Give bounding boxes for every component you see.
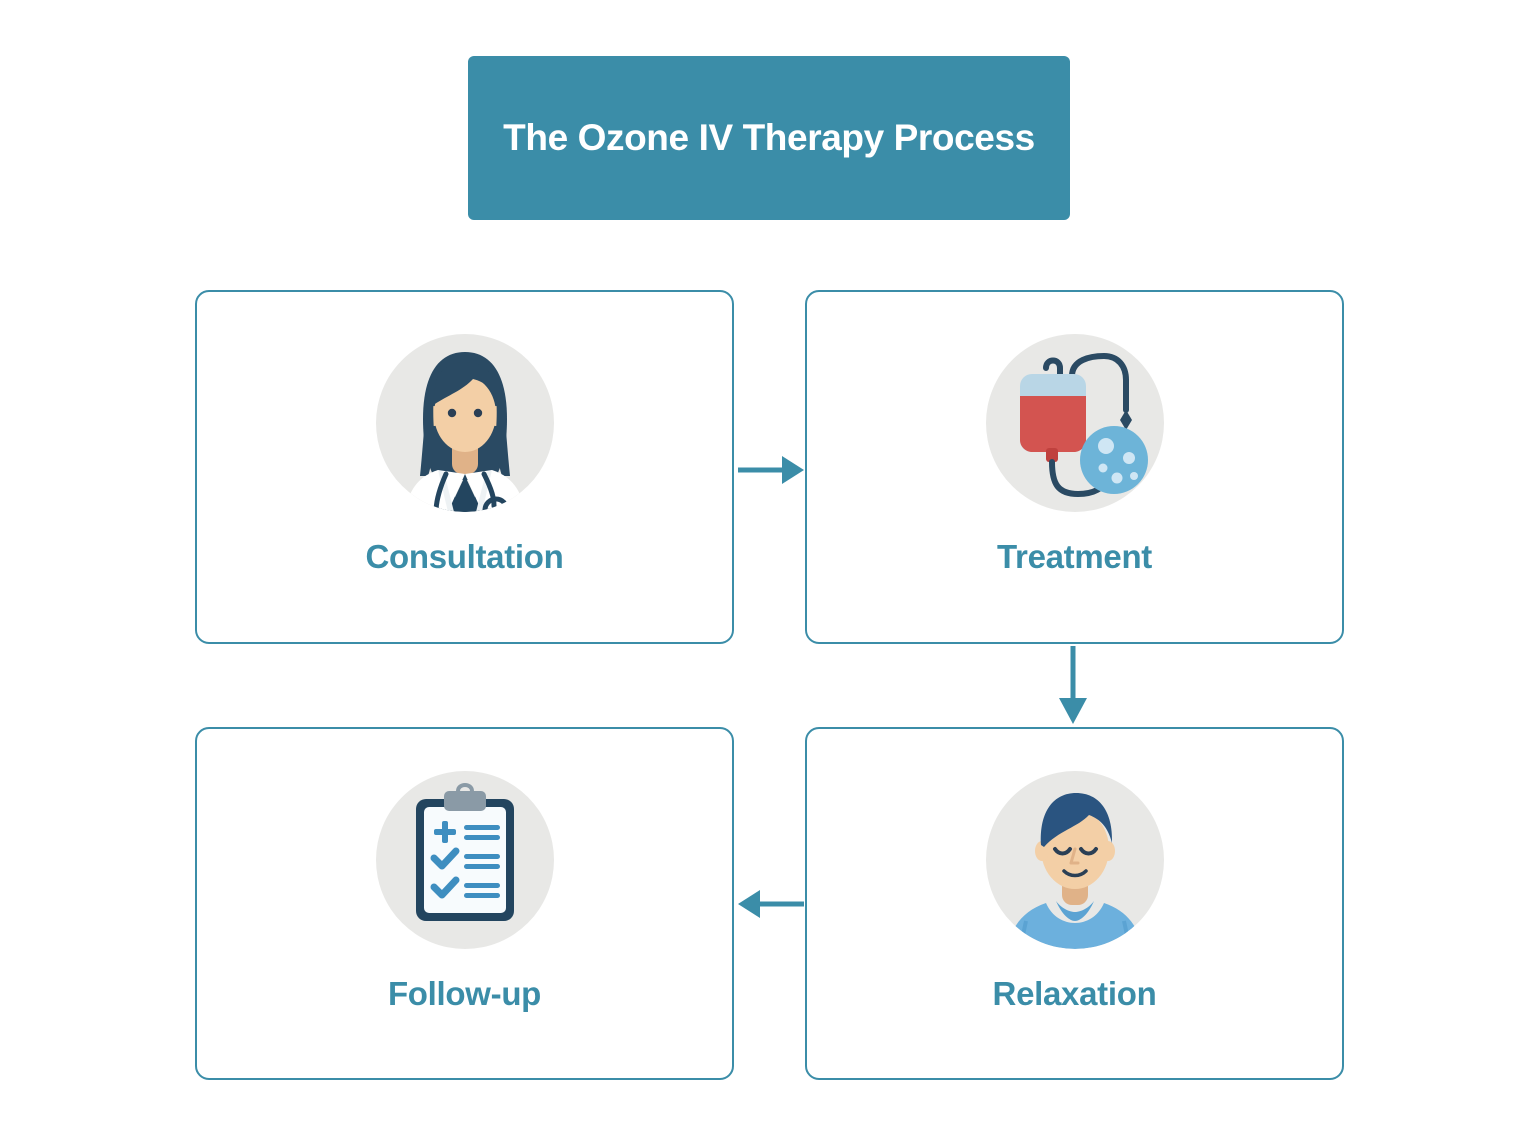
flowchart-page: The Ozone IV Therapy Process [0, 0, 1538, 1140]
iv-bag-ozone-icon [986, 334, 1164, 512]
clipboard-checklist-icon [376, 771, 554, 949]
arrow-down-icon [1051, 646, 1095, 724]
step-label-follow-up: Follow-up [388, 975, 541, 1013]
page-title: The Ozone IV Therapy Process [503, 117, 1035, 159]
relaxed-person-icon [986, 771, 1164, 949]
arrow-right-icon [738, 448, 804, 492]
page-title-banner: The Ozone IV Therapy Process [468, 56, 1070, 220]
doctor-avatar-icon [376, 334, 554, 512]
step-card-treatment[interactable]: Treatment [805, 290, 1344, 644]
step-label-treatment: Treatment [997, 538, 1152, 576]
arrow-left-icon [738, 882, 804, 926]
step-card-consultation[interactable]: Consultation [195, 290, 734, 644]
step-card-follow-up[interactable]: Follow-up [195, 727, 734, 1080]
step-card-relaxation[interactable]: Relaxation [805, 727, 1344, 1080]
step-label-consultation: Consultation [365, 538, 563, 576]
step-label-relaxation: Relaxation [993, 975, 1157, 1013]
